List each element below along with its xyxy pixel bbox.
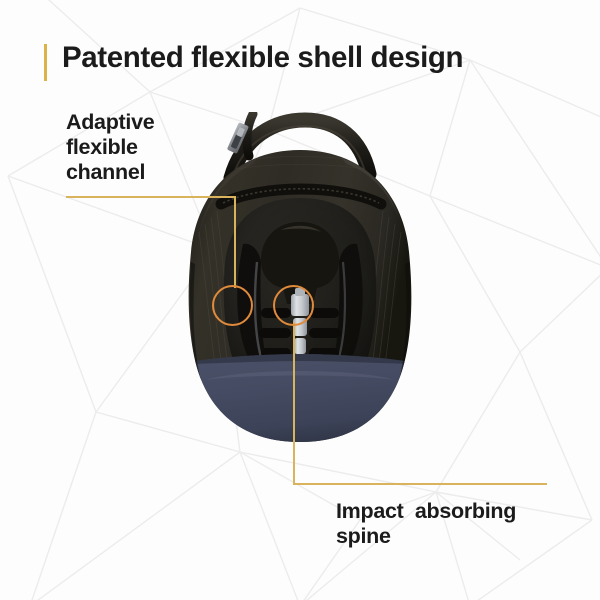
callout-marker-spine [273, 285, 314, 326]
callout-marker-channel [212, 285, 253, 326]
leader-line-spine-horizontal [293, 483, 547, 485]
callout-label-impact-absorbing-spine: Impact absorbing spine [336, 499, 516, 549]
page-title: Patented flexible shell design [62, 41, 463, 75]
infographic-page: Patented flexible shell design [0, 0, 600, 600]
title-accent-bar [44, 44, 47, 81]
helmet-brim [179, 354, 421, 454]
leader-line-spine-vertical [293, 322, 295, 484]
leader-line-channel-horizontal [66, 196, 236, 198]
leader-line-channel-vertical [234, 196, 236, 288]
callout-label-adaptive-flexible-channel: Adaptive flexible channel [66, 110, 154, 185]
